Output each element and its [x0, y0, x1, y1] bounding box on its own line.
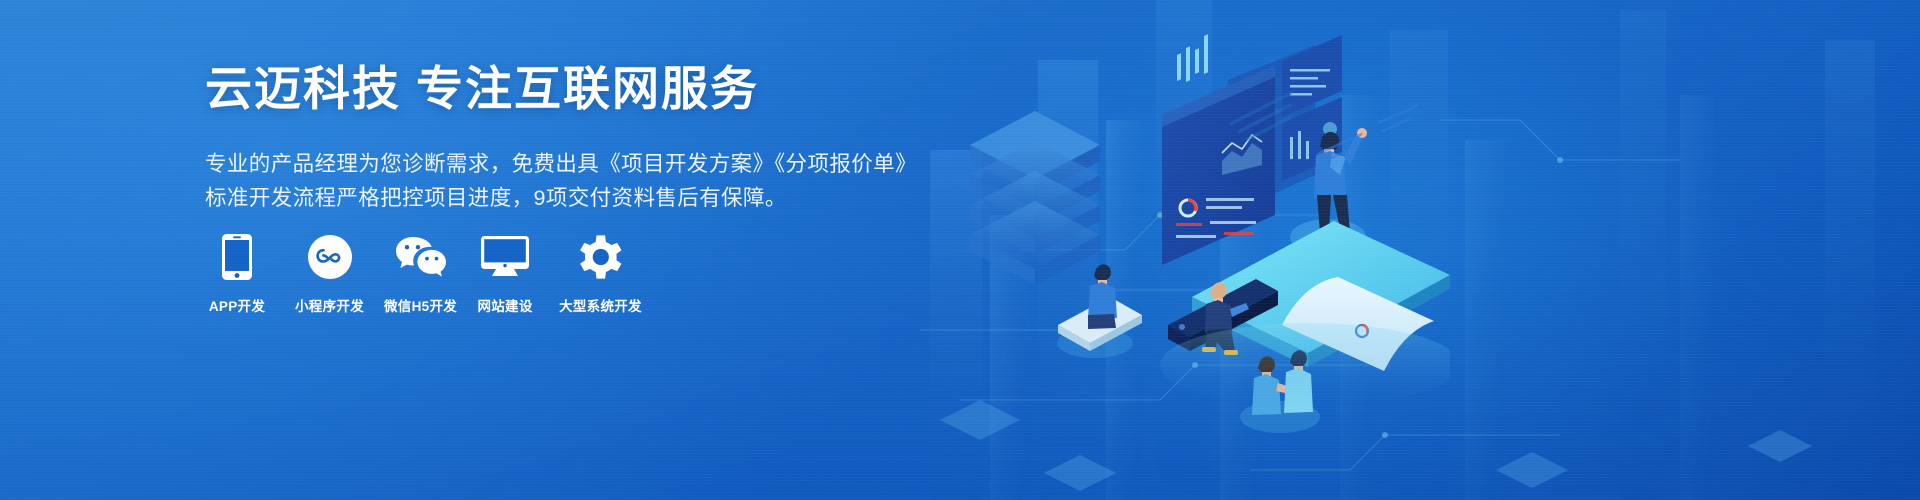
- wechat-icon: [389, 232, 453, 282]
- hero-copy: 云迈科技 专注互联网服务 专业的产品经理为您诊断需求，免费出具《项目开发方案》《…: [205, 62, 965, 215]
- hero-banner: 云迈科技 专注互联网服务 专业的产品经理为您诊断需求，免费出具《项目开发方案》《…: [0, 0, 1920, 500]
- service-item-mini-program[interactable]: 小程序开发: [295, 232, 364, 315]
- subtitle-line-1: 专业的产品经理为您诊断需求，免费出具《项目开发方案》《分项报价单》: [205, 147, 965, 181]
- monitor-icon: [473, 232, 537, 282]
- service-label-website: 网站建设: [477, 295, 532, 315]
- server-stack: [970, 111, 1100, 285]
- service-label-app: APP开发: [209, 295, 265, 315]
- service-label-system: 大型系统开发: [559, 295, 642, 315]
- service-list: APP开发 小程序开发: [205, 232, 642, 315]
- mini-program-icon: [298, 232, 362, 282]
- service-label-wechat: 微信H5开发: [384, 295, 457, 315]
- gear-icon: [568, 232, 632, 282]
- character-laptop: [1057, 264, 1142, 358]
- isometric-data-dashboard-illustration: [930, 25, 1450, 445]
- service-label-mini-program: 小程序开发: [295, 295, 364, 315]
- page-title: 云迈科技 专注互联网服务: [205, 62, 965, 117]
- service-item-system[interactable]: 大型系统开发: [559, 232, 642, 315]
- subtitle-line-2: 标准开发流程严格把控项目进度，9项交付资料售后有保障。: [205, 181, 965, 215]
- mobile-phone-icon: [205, 232, 269, 282]
- service-item-website[interactable]: 网站建设: [473, 232, 537, 315]
- service-item-app[interactable]: APP开发: [205, 232, 269, 315]
- service-item-wechat[interactable]: 微信H5开发: [384, 232, 457, 315]
- subtitle-block: 专业的产品经理为您诊断需求，免费出具《项目开发方案》《分项报价单》 标准开发流程…: [205, 147, 965, 215]
